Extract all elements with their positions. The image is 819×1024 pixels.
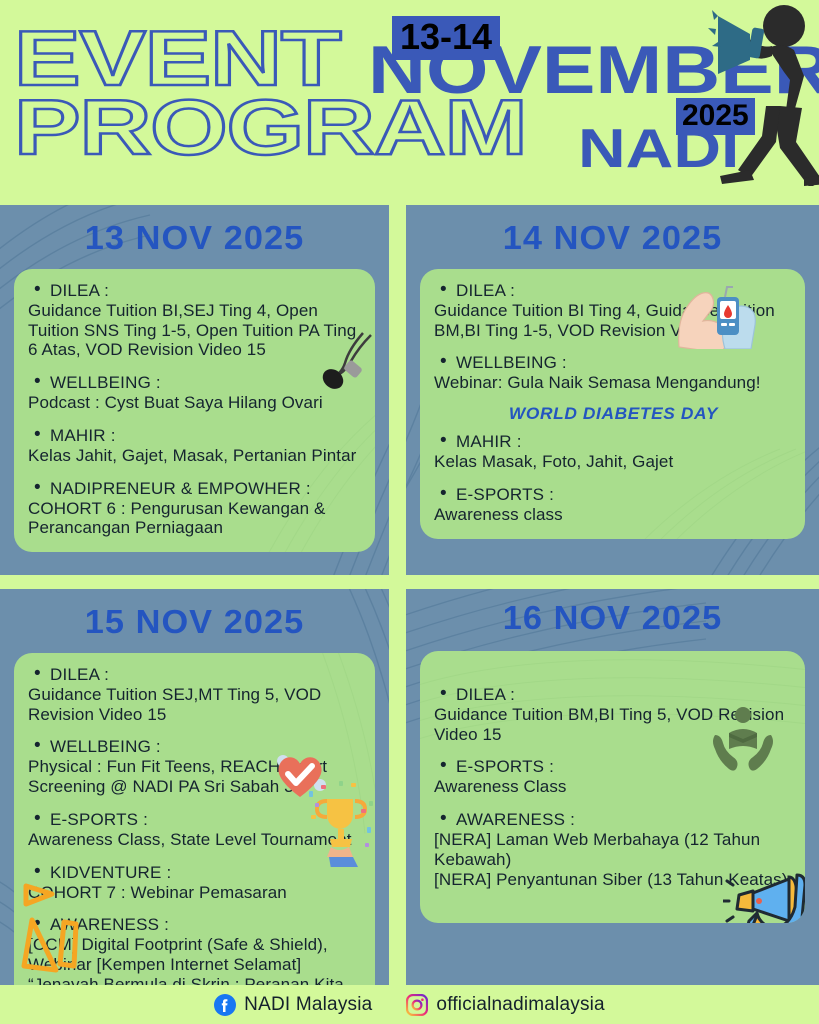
poster-header: EVENTPROGRAM NOVEMBER NADI 13-14 2025 bbox=[0, 0, 819, 205]
section-title: MAHIR : bbox=[28, 426, 363, 446]
program-section: NADIPRENEUR & EMPOWHER : COHORT 6 : Peng… bbox=[28, 479, 363, 538]
day-date-heading: 15 NOV 2025 bbox=[0, 603, 389, 641]
header-dates-badge: 13-14 bbox=[392, 16, 500, 60]
program-section: KIDVENTURE : COHORT 7 : Webinar Pemasara… bbox=[28, 863, 363, 903]
person-with-megaphone-icon bbox=[706, 0, 819, 186]
program-section: WELLBEING : Webinar: Gula Naik Semasa Me… bbox=[434, 353, 793, 393]
day-date-heading: 16 NOV 2025 bbox=[406, 599, 819, 637]
section-title: DILEA : bbox=[434, 281, 793, 301]
section-body: [NERA] Laman Web Merbahaya (12 Tahun Keb… bbox=[434, 830, 793, 889]
section-title: E-SPORTS : bbox=[434, 485, 793, 505]
day-date-heading: 13 NOV 2025 bbox=[0, 219, 389, 257]
section-body: Podcast : Cyst Buat Saya Hilang Ovari bbox=[28, 393, 363, 413]
section-title: DILEA : bbox=[28, 281, 363, 301]
world-diabetes-day-banner: WORLD DIABETES DAY bbox=[430, 404, 796, 424]
section-title: KIDVENTURE : bbox=[28, 863, 363, 883]
section-body: COHORT 6 : Pengurusan Kewangan & Peranca… bbox=[28, 499, 363, 538]
section-title: WELLBEING : bbox=[28, 737, 363, 757]
section-body: Guidance Tuition BM,BI Ting 5, VOD Revis… bbox=[434, 705, 793, 744]
section-title: MAHIR : bbox=[434, 432, 793, 452]
section-body: Guidance Tuition BI Ting 4, Guidance Tui… bbox=[434, 301, 793, 340]
section-body: COHORT 7 : Webinar Pemasaran bbox=[28, 883, 363, 903]
day-panel-13-nov: 13 NOV 2025 DILEA : Guidance Tuition BI,… bbox=[0, 205, 389, 575]
program-section: WELLBEING : Physical : Fun Fit Teens, RE… bbox=[28, 737, 363, 796]
day-cards-grid: 13 NOV 2025 DILEA : Guidance Tuition BI,… bbox=[0, 205, 819, 985]
day-date-heading: 14 NOV 2025 bbox=[406, 219, 819, 257]
program-section: DILEA : Guidance Tuition BM,BI Ting 5, V… bbox=[434, 685, 793, 744]
facebook-handle[interactable]: NADI Malaysia bbox=[214, 994, 372, 1016]
program-section: DILEA : Guidance Tuition BI Ting 4, Guid… bbox=[434, 281, 793, 340]
section-title: NADIPRENEUR & EMPOWHER : bbox=[28, 479, 363, 499]
day-card-body: DILEA : Guidance Tuition SEJ,MT Ting 5, … bbox=[14, 653, 375, 985]
section-title: E-SPORTS : bbox=[28, 810, 363, 830]
program-section: DILEA : Guidance Tuition SEJ,MT Ting 5, … bbox=[28, 665, 363, 724]
instagram-handle[interactable]: officialnadimalaysia bbox=[406, 994, 604, 1016]
section-title: DILEA : bbox=[434, 685, 793, 705]
day-panel-15-nov: 15 NOV 2025 bbox=[0, 589, 389, 985]
day-panel-14-nov: 14 NOV 2025 DILEA : Guidance Tuition BI … bbox=[406, 205, 819, 575]
section-body: Guidance Tuition BI,SEJ Ting 4, Open Tui… bbox=[28, 301, 363, 360]
program-section: E-SPORTS : Awareness class bbox=[434, 485, 793, 525]
program-section: E-SPORTS : Awareness Class bbox=[434, 757, 793, 797]
section-body: Kelas Masak, Foto, Jahit, Gajet bbox=[434, 452, 793, 472]
poster-footer: NADI Malaysia officialnadimalaysia bbox=[0, 985, 819, 1024]
program-section: MAHIR : Kelas Jahit, Gajet, Masak, Perta… bbox=[28, 426, 363, 466]
facebook-label: NADI Malaysia bbox=[244, 994, 372, 1016]
section-title: AWARENESS : bbox=[28, 915, 363, 935]
day-card-body: DILEA : Guidance Tuition BI Ting 4, Guid… bbox=[420, 269, 805, 539]
instagram-label: officialnadimalaysia bbox=[436, 994, 604, 1016]
instagram-icon bbox=[406, 994, 428, 1016]
program-section: E-SPORTS : Awareness Class, State Level … bbox=[28, 810, 363, 850]
program-section: AWARENESS : [CCM] Digital Footprint (Saf… bbox=[28, 915, 363, 985]
section-body: Awareness Class, State Level Tournament bbox=[28, 830, 363, 850]
section-body: [CCM] Digital Footprint (Safe & Shield),… bbox=[28, 935, 363, 985]
day-card-body: DILEA : Guidance Tuition BM,BI Ting 5, V… bbox=[420, 651, 805, 923]
facebook-icon bbox=[214, 994, 236, 1016]
section-body: Webinar: Gula Naik Semasa Mengandung! bbox=[434, 373, 793, 393]
program-section: AWARENESS : [NERA] Laman Web Merbahaya (… bbox=[434, 810, 793, 889]
day-card-body: DILEA : Guidance Tuition BI,SEJ Ting 4, … bbox=[14, 269, 375, 552]
program-section: DILEA : Guidance Tuition BI,SEJ Ting 4, … bbox=[28, 281, 363, 360]
section-body: Kelas Jahit, Gajet, Masak, Pertanian Pin… bbox=[28, 446, 363, 466]
section-body: Awareness class bbox=[434, 505, 793, 525]
section-title: AWARENESS : bbox=[434, 810, 793, 830]
section-body: Physical : Fun Fit Teens, REACH Heart Sc… bbox=[28, 757, 363, 796]
day-panel-16-nov: 16 NOV 2025 bbox=[406, 589, 819, 985]
section-body: Awareness Class bbox=[434, 777, 793, 797]
section-body: Guidance Tuition SEJ,MT Ting 5, VOD Revi… bbox=[28, 685, 363, 724]
program-section: MAHIR : Kelas Masak, Foto, Jahit, Gajet bbox=[434, 432, 793, 472]
section-title: DILEA : bbox=[28, 665, 363, 685]
section-title: E-SPORTS : bbox=[434, 757, 793, 777]
program-section: WELLBEING : Podcast : Cyst Buat Saya Hil… bbox=[28, 373, 363, 413]
section-title: WELLBEING : bbox=[434, 353, 793, 373]
section-title: WELLBEING : bbox=[28, 373, 363, 393]
